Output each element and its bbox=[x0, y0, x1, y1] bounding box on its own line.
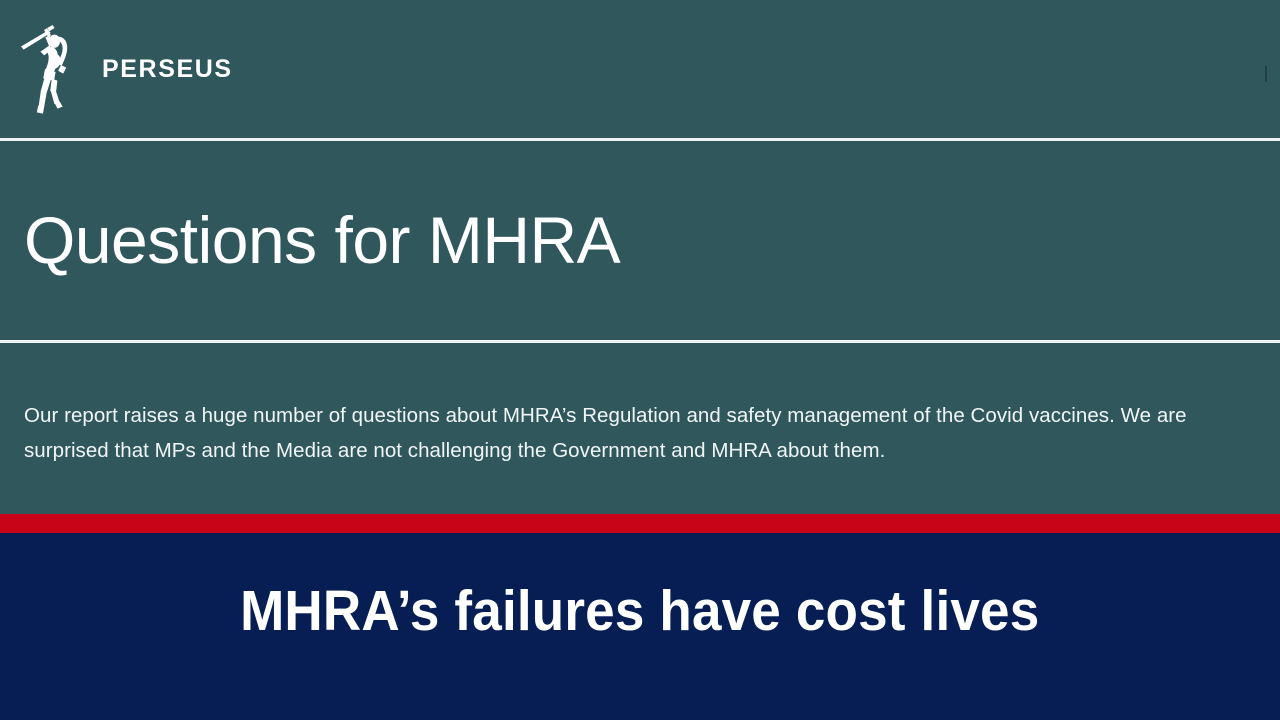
body-paragraph: Our report raises a huge number of quest… bbox=[24, 398, 1230, 468]
divider-below-title bbox=[0, 340, 1280, 343]
brand-header: PERSEUS bbox=[0, 0, 1280, 138]
red-accent-rule bbox=[0, 514, 1280, 533]
navy-banner: MHRA’s failures have cost lives bbox=[0, 533, 1280, 720]
slide: PERSEUS Questions for MHRA Our report ra… bbox=[0, 0, 1280, 720]
header-artifact-mark bbox=[1265, 66, 1267, 82]
banner-headline: MHRA’s failures have cost lives bbox=[240, 582, 1039, 642]
body-block: Our report raises a huge number of quest… bbox=[0, 398, 1230, 468]
title-band: Questions for MHRA bbox=[0, 141, 1280, 340]
page-title: Questions for MHRA bbox=[0, 206, 620, 276]
perseus-warrior-logo-icon bbox=[14, 24, 78, 116]
brand-name: PERSEUS bbox=[102, 57, 233, 82]
